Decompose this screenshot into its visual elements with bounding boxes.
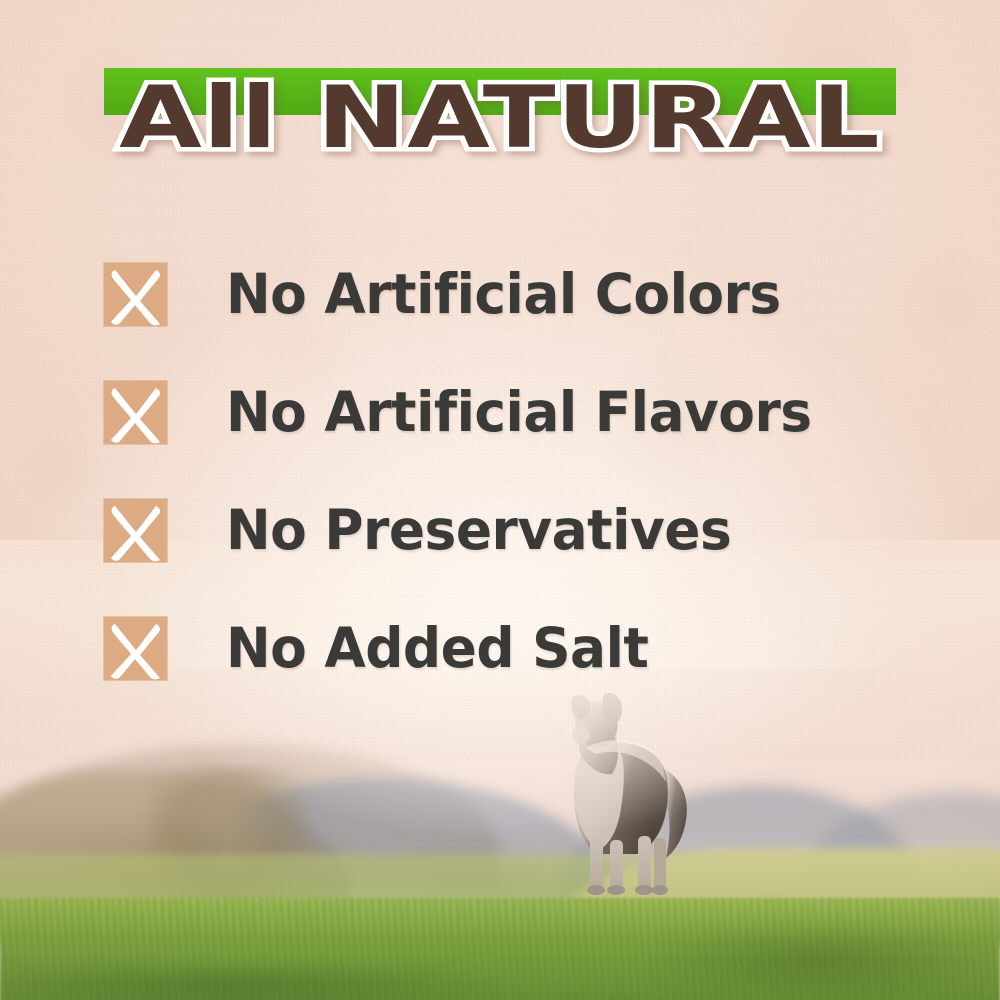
list-item-label: No Preservatives [226,494,731,566]
list-item: No Preservatives [104,494,924,612]
grass-shadow-right [640,920,1000,1000]
list-item-label: No Artificial Flavors [226,376,812,448]
headline-block: All NATURAL [0,68,1000,188]
list-item: No Artificial Colors [104,258,924,376]
grass-shadow-left [0,966,490,1000]
x-mark-icon [104,263,167,326]
page-title: All NATURAL [0,68,1000,168]
list-item-label: No Artificial Colors [226,258,781,330]
x-mark-icon [104,381,167,444]
list-item: No Added Salt [104,612,924,730]
all-natural-feature-panel: All NATURAL No Artificial Colors No Arti… [0,0,1000,1000]
x-mark-icon [104,499,167,562]
list-item-label: No Added Salt [226,612,648,684]
x-mark-icon [104,617,167,680]
feature-list: No Artificial Colors No Artificial Flavo… [104,258,924,730]
list-item: No Artificial Flavors [104,376,924,494]
